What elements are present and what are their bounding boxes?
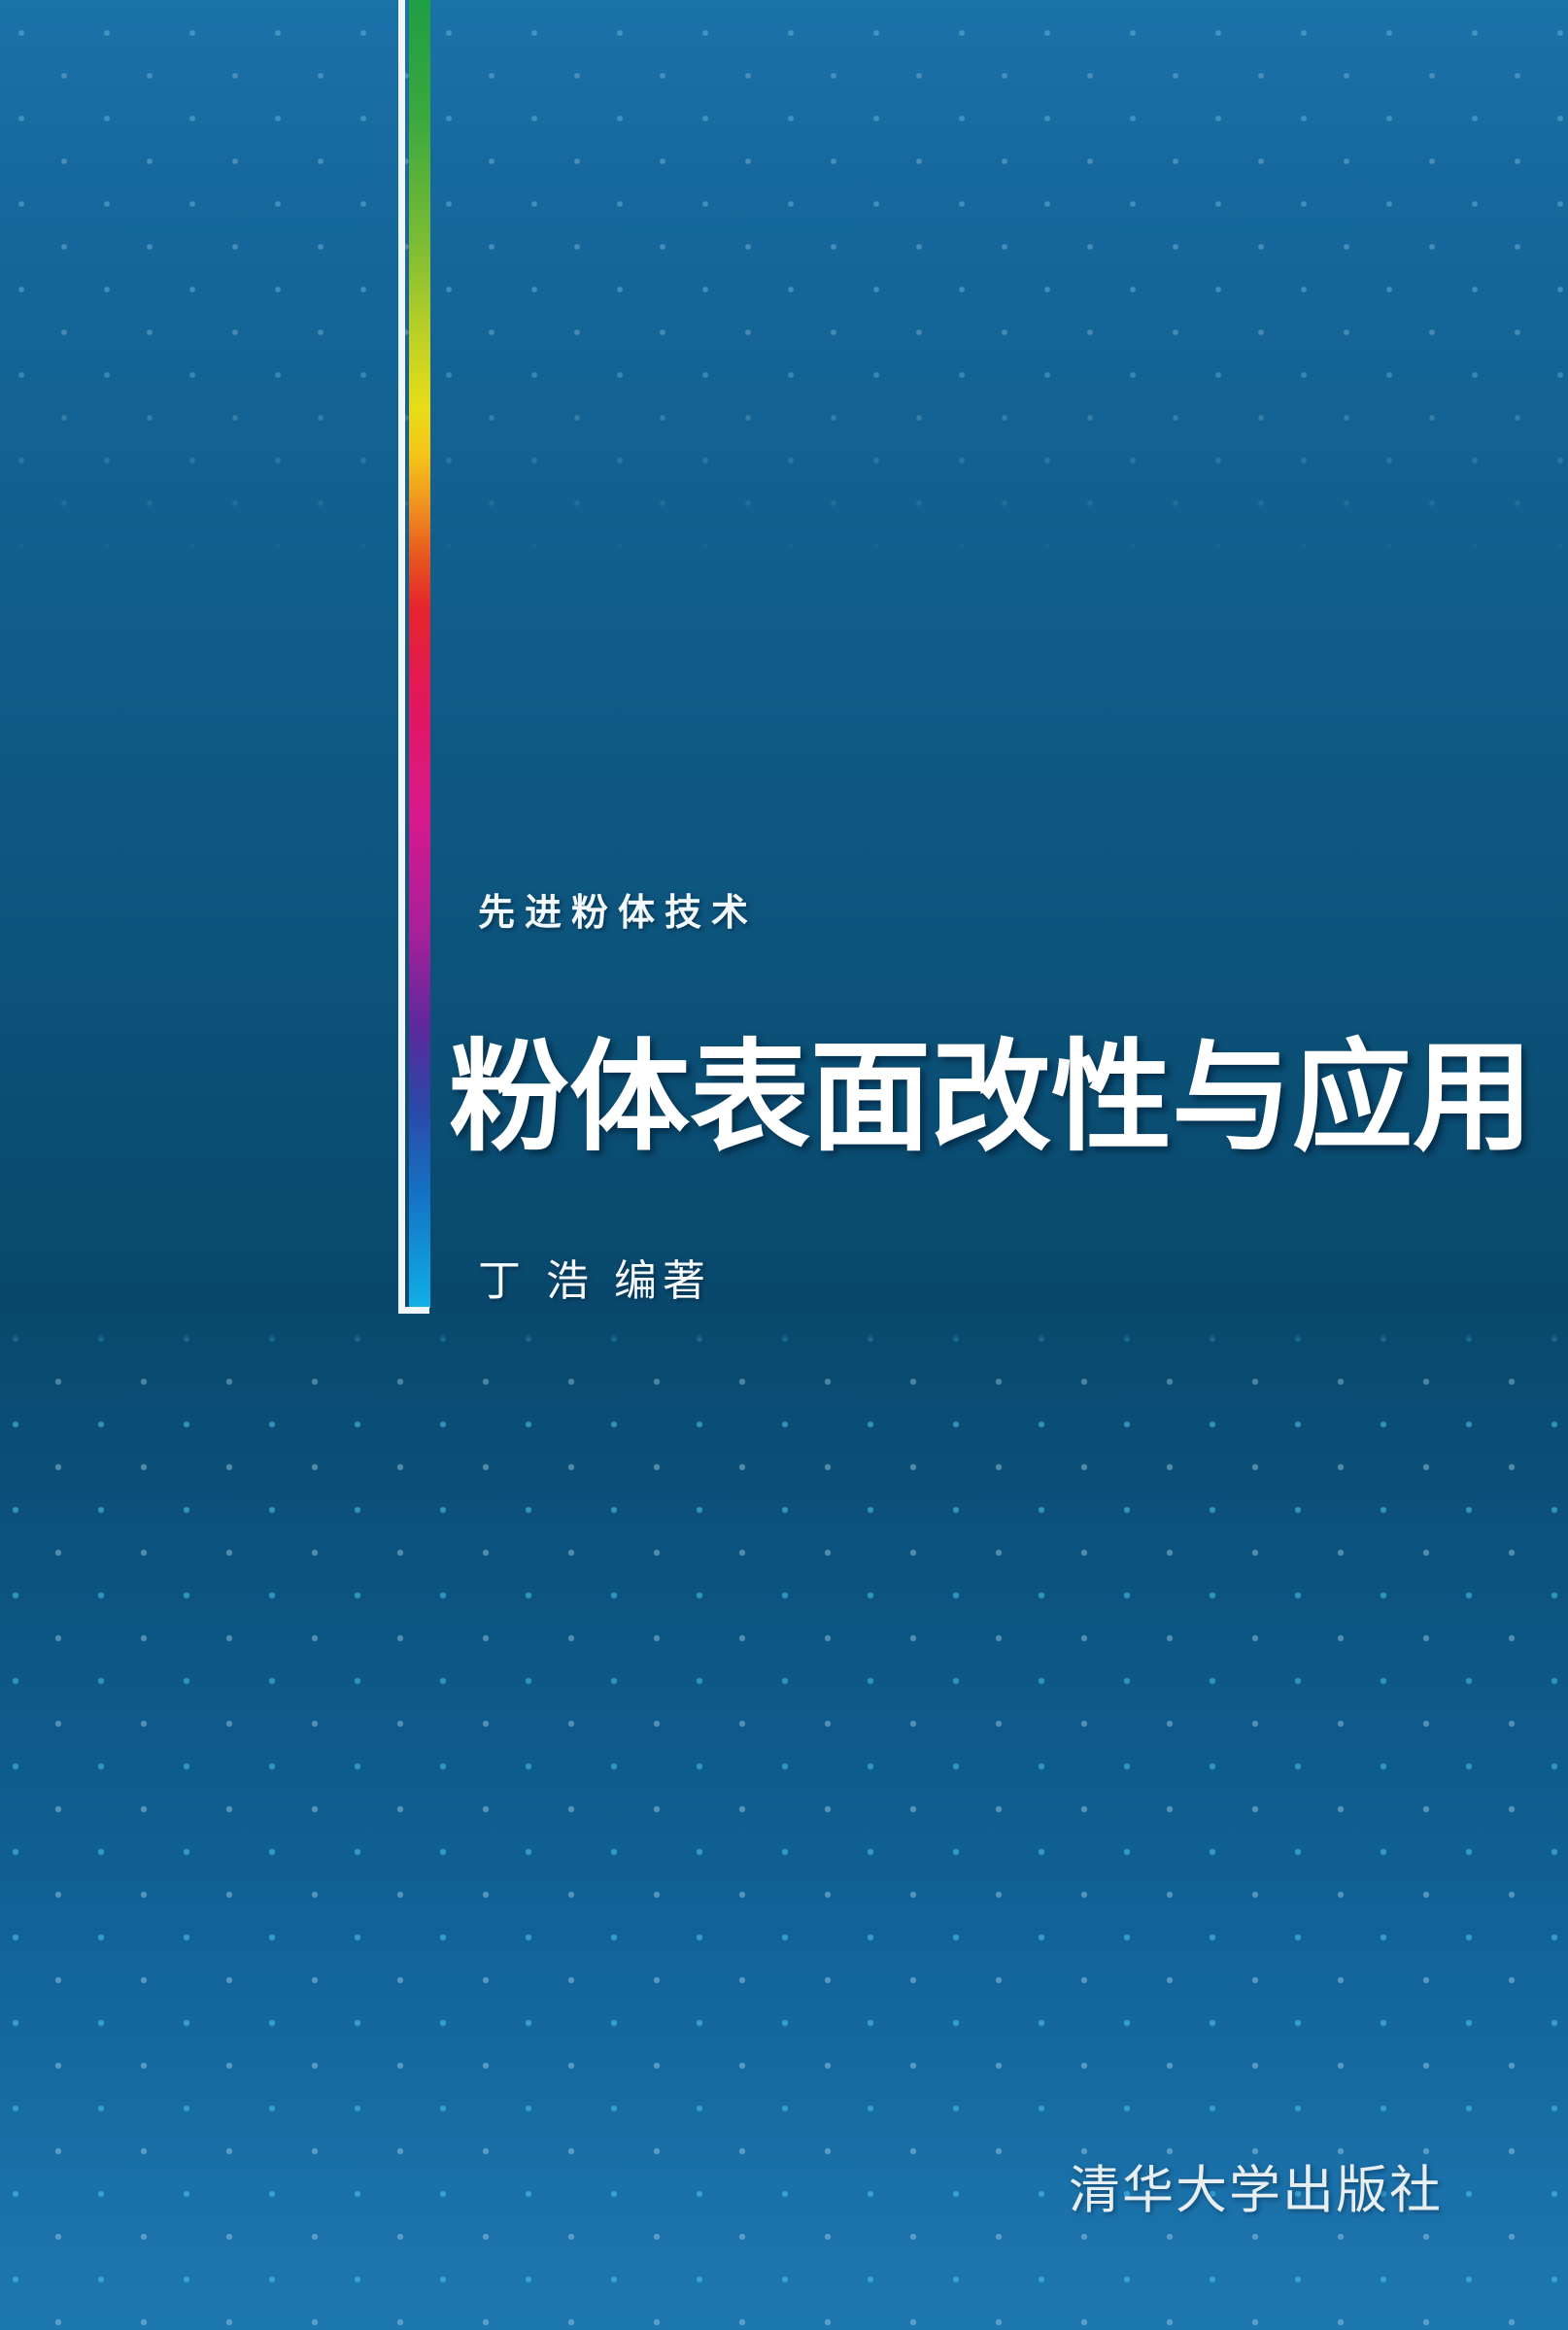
book-cover: 先进粉体技术 粉体表面改性与应用 丁 浩 编著 清华大学出版社 (0, 0, 1568, 2330)
spine-rule-foot (398, 1307, 429, 1314)
spectrum-spine (398, 0, 433, 1314)
publisher-name: 清华大学出版社 (1069, 2149, 1443, 2223)
author-byline: 丁 浩 编著 (478, 1246, 711, 1308)
book-main-title: 粉体表面改性与应用 (449, 1038, 1533, 1158)
series-title: 先进粉体技术 (478, 882, 758, 936)
spine-rainbow-bar (409, 0, 430, 1308)
spine-rule-line (398, 0, 405, 1314)
